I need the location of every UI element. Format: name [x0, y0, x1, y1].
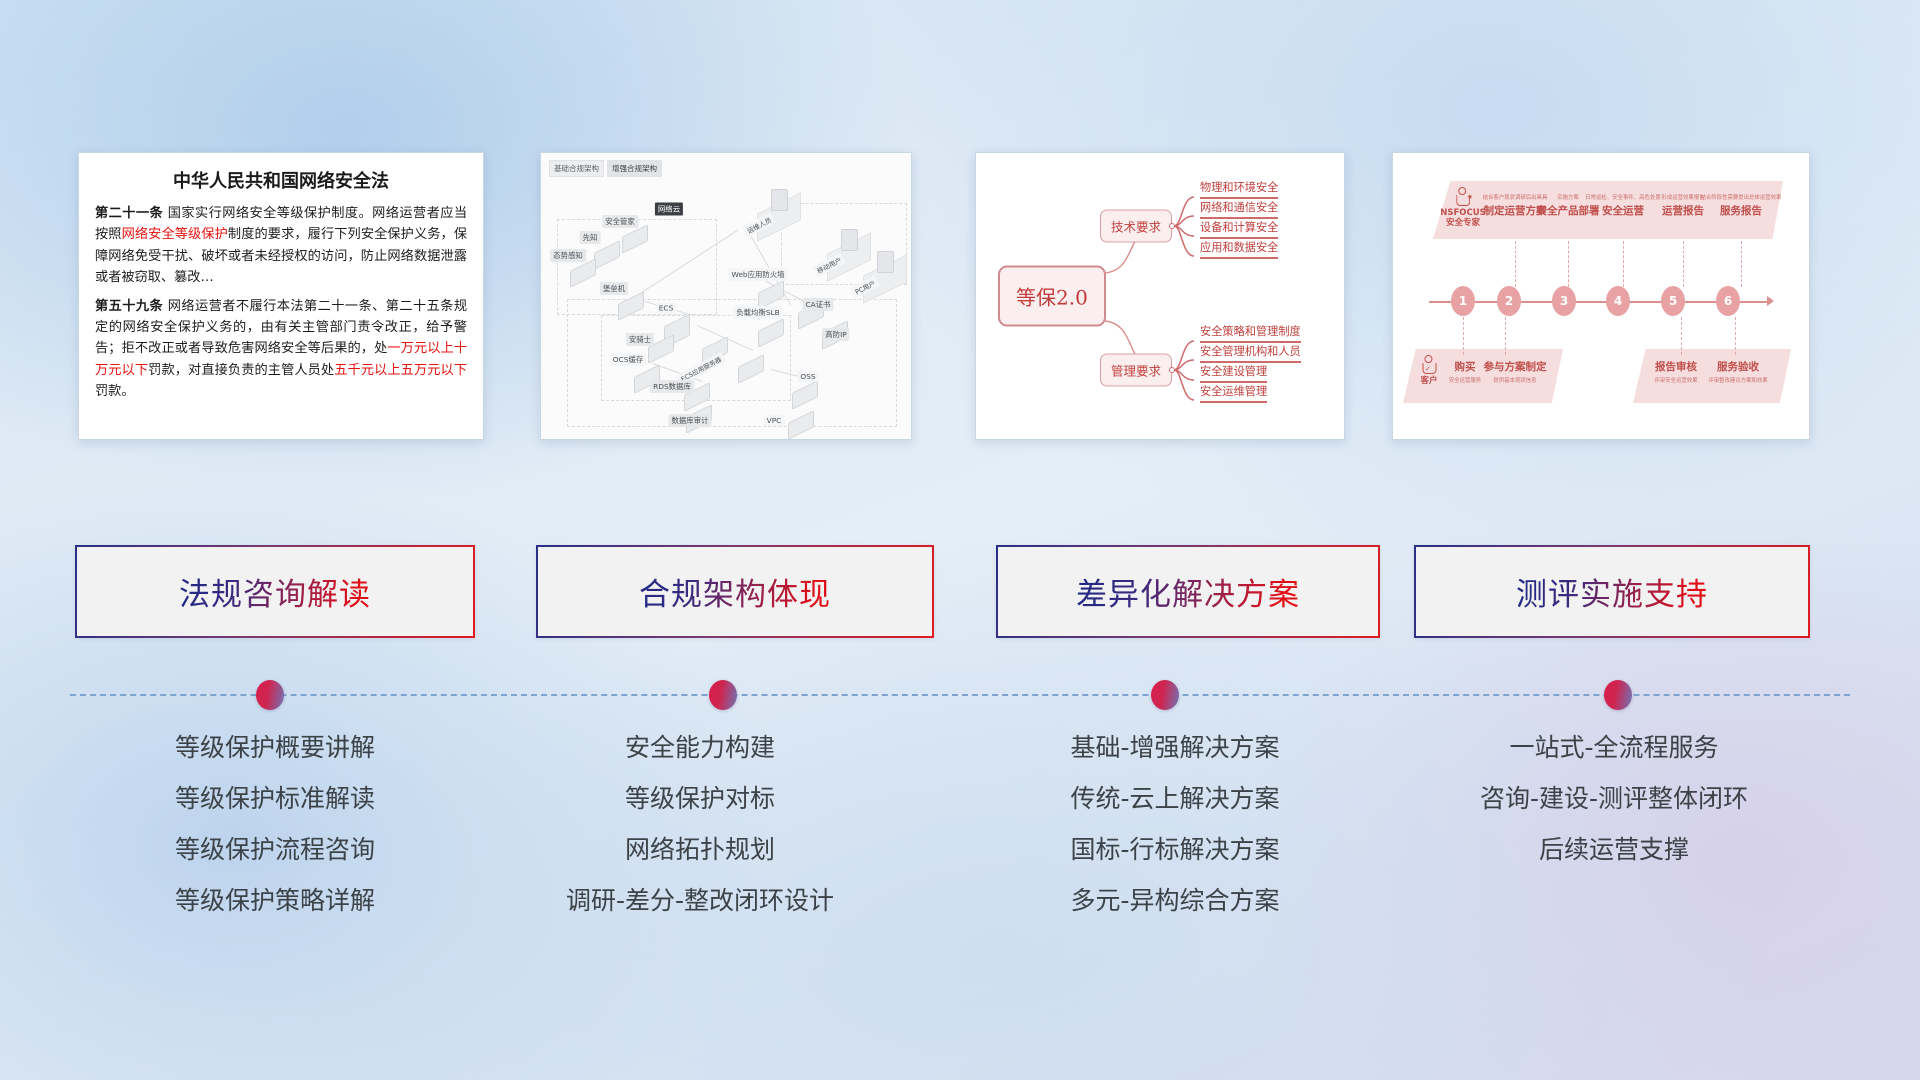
node-ecs-app-server-b: [738, 361, 764, 378]
track-dot-3: [1151, 680, 1179, 710]
article-59-highlight-2: 五千元以上五万元以下: [334, 363, 467, 378]
node-oss: OSS: [792, 387, 818, 404]
list-item: 国标-行标解决方案: [975, 837, 1375, 862]
node-xianzhi: 先知: [594, 247, 620, 264]
timeline-node-4[interactable]: 4: [1606, 286, 1630, 316]
timeline-bottom-step-1: 购买 安全运营服务: [1449, 359, 1481, 384]
section-header-compliance-architecture[interactable]: 合规架构体现: [536, 545, 934, 638]
node-situational-awareness: 态势感知: [570, 265, 596, 282]
customer-name: 客户: [1420, 377, 1437, 387]
node-oss-label: OSS: [797, 371, 818, 382]
node-slb: 负载均衡SLB: [758, 325, 784, 342]
node-bastion-host-label: 堡垒机: [600, 282, 628, 295]
node-web-firewall-label: Web应用防火墙: [728, 268, 787, 281]
article-59-seg2: 罚款，对直接负责的主管人员处: [148, 363, 334, 378]
node-xianzhi-label: 先知: [580, 231, 601, 244]
timeline-lead-2-bottom: [1505, 317, 1506, 355]
top-step-4-sub: 日常巡检、安全事件、高危处置: [1585, 193, 1660, 201]
node-ca-certificate: CA证书: [798, 307, 824, 324]
track-dot-1: [256, 680, 284, 710]
timeline-lead-6: [1741, 241, 1742, 287]
timeline-top-step-5: 形成运营效果报告 运营报告: [1661, 193, 1704, 218]
bottom-step-2-title: 参与方案制定: [1484, 359, 1547, 374]
timeline-track: [70, 694, 1850, 696]
node-ca-certificate-label: CA证书: [803, 298, 834, 311]
timeline-node-3[interactable]: 3: [1552, 286, 1576, 316]
expert-person-icon: ★: [1455, 187, 1471, 207]
section-header-2-label: 合规架构体现: [639, 569, 831, 614]
architecture-diagram: 基础合规架构 增强合规架构: [541, 153, 911, 439]
node-situational-awareness-label: 态势感知: [550, 249, 586, 262]
timeline-actor-customer: ✓ 客户: [1420, 355, 1437, 387]
node-rds-database-label: RDS数据库: [650, 380, 694, 393]
article-21-highlight: 网络安全等级保护: [122, 227, 228, 242]
preview-cards-row: 中华人民共和国网络安全法 第二十一条 国家实行网络安全等级保护制度。网络运营者应…: [0, 152, 1920, 442]
section-headers-row: 法规咨询解读 合规架构体现 差异化解决方案 测评实施支持: [0, 545, 1920, 640]
node-ops-staff: 运维人员: [757, 203, 801, 231]
card-service-timeline[interactable]: ★ NSFOCUS 安全专家 结合客户现状调研后出具具 制定运营方案 实施方案 …: [1392, 152, 1810, 440]
node-anti-ddos-ip-label: 高防IP: [822, 328, 849, 341]
top-step-5-sub: 形成运营效果报告: [1661, 193, 1704, 201]
mindmap-leaf-security-ops: 安全运维管理: [1200, 383, 1267, 403]
list-item: 安全能力构建: [470, 735, 930, 760]
law-article-59: 第五十九条 网络运营者不履行本法第二十一条、第二十五条规定的网络安全保护义务的，…: [95, 296, 467, 403]
mindmap-leaf-security-construction: 安全建设管理: [1200, 363, 1267, 383]
timeline-node-6[interactable]: 6: [1716, 286, 1740, 316]
node-pc-user: PC用户: [863, 265, 907, 293]
list-regulation-consulting: 等级保护概要讲解 等级保护标准解读 等级保护流程咨询 等级保护策略详解: [75, 735, 475, 939]
bottom-step-5-sub: 评审安全运营效果: [1654, 376, 1697, 384]
section-header-assessment-support[interactable]: 测评实施支持: [1414, 545, 1810, 638]
architecture-canvas: 网络云 安全管家 先知 态势感知 堡垒机: [549, 173, 903, 431]
mindmap-leaf-physical-env-security: 物理和环境安全: [1200, 179, 1278, 199]
mindmap-leaf-security-policy: 安全策略和管理制度: [1200, 323, 1301, 343]
list-item: 等级保护策略详解: [75, 888, 475, 913]
node-db-audit-label: 数据库审计: [669, 414, 712, 427]
list-differentiated-solutions: 基础-增强解决方案 传统-云上解决方案 国标-行标解决方案 多元-异构综合方案: [975, 735, 1375, 939]
node-ecs-label: ECS: [656, 303, 677, 314]
list-item: 等级保护流程咨询: [75, 837, 475, 862]
service-timeline: ★ NSFOCUS 安全专家 结合客户现状调研后出具具 制定运营方案 实施方案 …: [1393, 153, 1809, 439]
section-header-3-label: 差异化解决方案: [1076, 569, 1300, 614]
list-item: 一站式-全流程服务: [1404, 735, 1824, 760]
list-item: 等级保护概要讲解: [75, 735, 475, 760]
timeline-lead-1-bottom: [1463, 317, 1464, 355]
slide-canvas: 中华人民共和国网络安全法 第二十一条 国家实行网络安全等级保护制度。网络运营者应…: [0, 0, 1920, 1080]
timeline-top-step-4: 日常巡检、安全事件、高危处置 安全运营: [1585, 193, 1660, 218]
node-vpc-label: VPC: [764, 415, 785, 426]
section-header-4-label: 测评实施支持: [1516, 569, 1708, 614]
mindmap-expand-dot-management[interactable]: [1169, 367, 1175, 373]
section-header-regulation-consulting[interactable]: 法规咨询解读: [75, 545, 475, 638]
timeline-lead-6-bottom: [1735, 317, 1736, 355]
top-step-6-sub: 结合阶段性需要提出总体运营效果: [1701, 193, 1782, 201]
node-slb-label: 负载均衡SLB: [733, 306, 782, 319]
law-document: 中华人民共和国网络安全法 第二十一条 国家实行网络安全等级保护制度。网络运营者应…: [79, 153, 483, 417]
node-security-butler: 安全管家: [622, 231, 648, 248]
top-step-5-title: 运营报告: [1661, 203, 1704, 218]
timeline-lead-2: [1515, 241, 1516, 287]
timeline-lead-4: [1623, 241, 1624, 287]
node-web-firewall: Web应用防火墙: [758, 287, 784, 304]
list-assessment-support: 一站式-全流程服务 咨询-建设-测评整体闭环 后续运营支撑: [1404, 735, 1824, 888]
mindmap-leaf-device-compute-security: 设备和计算安全: [1200, 219, 1278, 239]
article-21-label: 第二十一条: [95, 206, 163, 221]
node-anqishi-label: 安骑士: [626, 333, 654, 346]
list-item: 传统-云上解决方案: [975, 786, 1375, 811]
mindmap-leaf-security-org-personnel: 安全管理机构和人员: [1200, 343, 1301, 363]
timeline-lead-3: [1568, 241, 1569, 287]
timeline-node-1[interactable]: 1: [1451, 286, 1475, 316]
top-step-6-title: 服务报告: [1701, 203, 1782, 218]
timeline-dashed-line: [70, 694, 1850, 696]
mindmap-expand-dot-technical[interactable]: [1169, 223, 1175, 229]
list-item: 后续运营支撑: [1404, 837, 1824, 862]
law-article-21: 第二十一条 国家实行网络安全等级保护制度。网络运营者应当按照网络安全等级保护制度…: [95, 203, 467, 289]
node-vpc: VPC: [788, 417, 814, 434]
timeline-lead-5-bottom: [1681, 317, 1682, 355]
list-item: 调研-差分-整改闭环设计: [470, 888, 930, 913]
section-header-1-label: 法规咨询解读: [179, 569, 371, 614]
node-rds-database: RDS数据库: [684, 389, 710, 406]
card-dengbao-mindmap[interactable]: 等保2.0 技术要求 物理和环境安全 网络和通信安全: [975, 152, 1345, 440]
timeline-top-step-6: 结合阶段性需要提出总体运营效果 服务报告: [1701, 193, 1782, 218]
timeline-bottom-step-5: 报告审核 评审安全运营效果: [1654, 359, 1697, 384]
timeline-actor-provider: ★ NSFOCUS 安全专家: [1440, 187, 1486, 229]
card-cybersecurity-law[interactable]: 中华人民共和国网络安全法 第二十一条 国家实行网络安全等级保护制度。网络运营者应…: [78, 152, 484, 440]
timeline-node-2[interactable]: 2: [1497, 286, 1521, 316]
bottom-step-2-sub: 提供基本现状信息: [1484, 376, 1547, 384]
node-anti-ddos-ip: 高防IP: [822, 327, 848, 344]
track-dot-2: [709, 680, 737, 710]
timeline-node-5[interactable]: 5: [1661, 286, 1685, 316]
mindmap-leaf-app-data-security: 应用和数据安全: [1200, 239, 1278, 259]
list-item: 咨询-建设-测评整体闭环: [1404, 786, 1824, 811]
list-item: 多元-异构综合方案: [975, 888, 1375, 913]
mindmap-leaf-network-comm-security: 网络和通信安全: [1200, 199, 1278, 219]
mindmap-category-management: 管理要求: [1100, 354, 1172, 387]
track-dot-4: [1604, 680, 1632, 710]
timeline-bottom-step-2: 参与方案制定 提供基本现状信息: [1484, 359, 1547, 384]
mindmap-category-technical: 技术要求: [1100, 210, 1172, 243]
customer-person-icon: ✓: [1421, 355, 1437, 375]
node-anqishi: 安骑士: [648, 341, 674, 358]
node-db-audit: 数据库审计: [686, 411, 712, 428]
timeline-bottom-step-6: 服务验收 评审整改建议方案和效果: [1708, 359, 1767, 384]
bottom-step-5-title: 报告审核: [1654, 359, 1697, 374]
card-cloud-architecture[interactable]: 基础合规架构 增强合规架构: [540, 152, 912, 440]
article-59-seg3: 罚款。: [95, 384, 135, 399]
section-header-differentiated-solutions[interactable]: 差异化解决方案: [996, 545, 1380, 638]
bottom-step-1-sub: 安全运营服务: [1449, 376, 1481, 384]
article-59-label: 第五十九条: [95, 299, 163, 314]
node-cloud-network-label: 网络云: [655, 203, 683, 216]
list-item: 网络拓扑规划: [470, 837, 930, 862]
list-item: 等级保护对标: [470, 786, 930, 811]
node-security-butler-label: 安全管家: [602, 215, 638, 228]
list-item: 基础-增强解决方案: [975, 735, 1375, 760]
timeline-arrow-icon: [1767, 296, 1774, 306]
bottom-step-1-title: 购买: [1449, 359, 1481, 374]
timeline-lead-5: [1683, 241, 1684, 287]
list-compliance-architecture: 安全能力构建 等级保护对标 网络拓扑规划 调研-差分-整改闭环设计: [470, 735, 930, 939]
node-bastion-host: 堡垒机: [618, 298, 644, 315]
law-title: 中华人民共和国网络安全法: [95, 167, 467, 193]
bottom-step-6-title: 服务验收: [1708, 359, 1767, 374]
mindmap: 等保2.0 技术要求 物理和环境安全 网络和通信安全: [976, 153, 1344, 439]
section-lists-row: 等级保护概要讲解 等级保护标准解读 等级保护流程咨询 等级保护策略详解 安全能力…: [0, 735, 1920, 985]
node-ocs-cache-label: OCS缓存: [610, 353, 646, 366]
mindmap-connectors: [976, 153, 1345, 440]
list-item: 等级保护标准解读: [75, 786, 475, 811]
provider-name-line2: 安全专家: [1440, 219, 1486, 229]
top-step-4-title: 安全运营: [1585, 203, 1660, 218]
bottom-step-6-sub: 评审整改建议方案和效果: [1708, 376, 1767, 384]
